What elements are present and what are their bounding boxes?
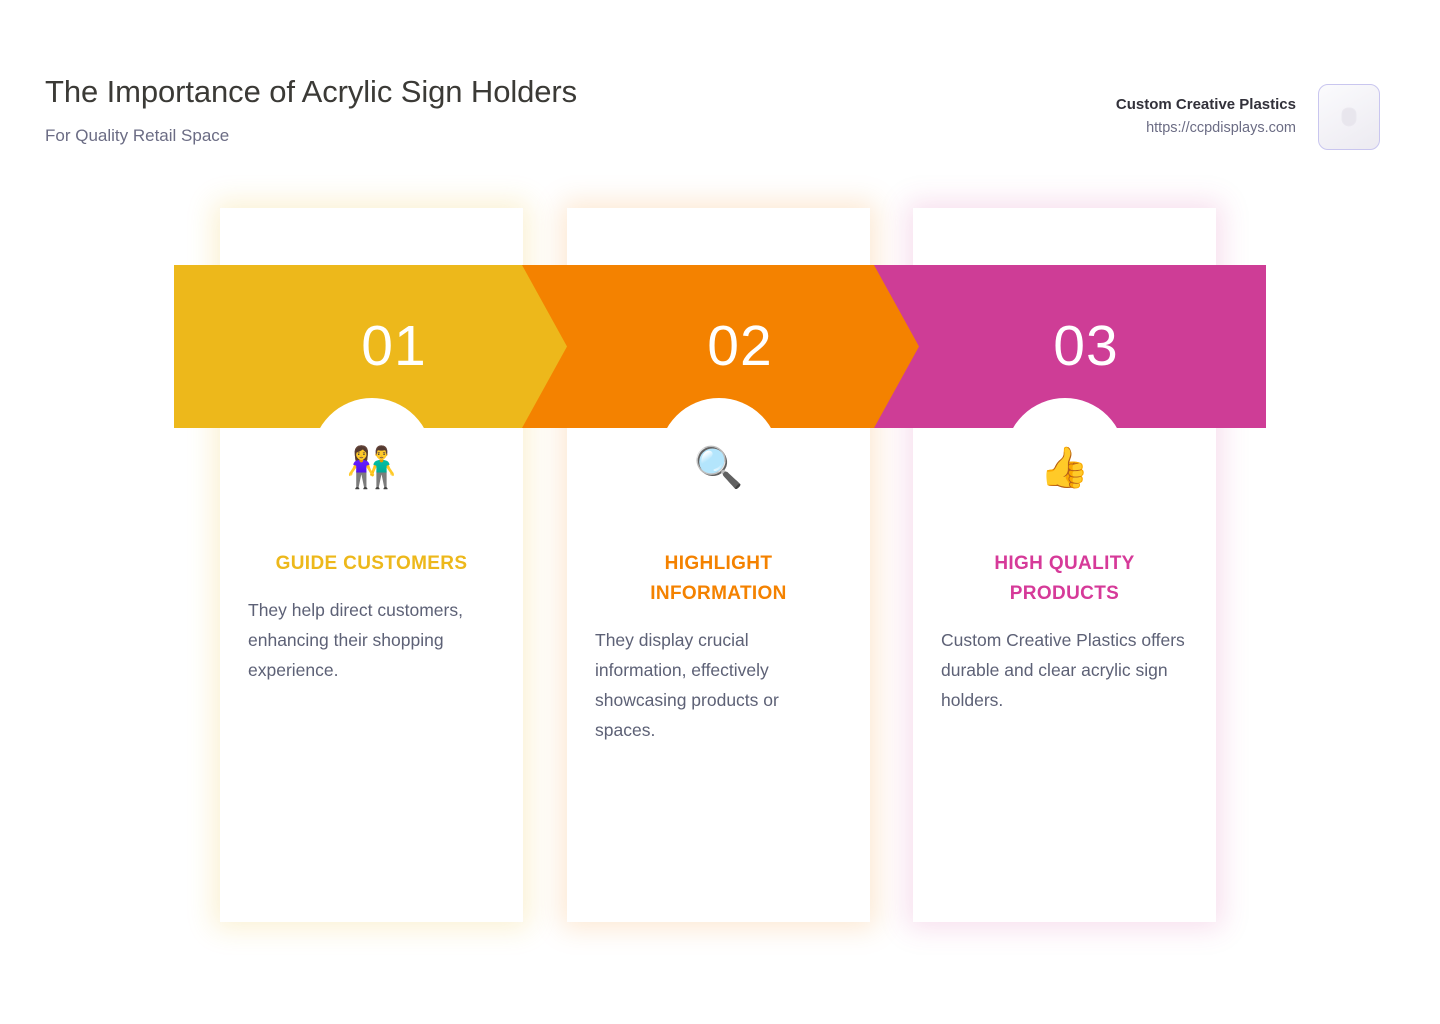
- card-description: They help direct customers, enhancing th…: [248, 595, 495, 685]
- infographic-page: The Importance of Acrylic Sign Holders F…: [0, 0, 1440, 1024]
- card-body: 🔍 HIGHLIGHT INFORMATION They display cru…: [567, 444, 870, 745]
- thumbs-up-icon: 👍: [941, 444, 1188, 492]
- card-description: They display crucial information, effect…: [595, 625, 842, 745]
- card-heading: GUIDE CUSTOMERS: [248, 549, 495, 579]
- card-heading: HIGHLIGHT INFORMATION: [595, 549, 842, 609]
- steps-container: 👫 GUIDE CUSTOMERS They help direct custo…: [0, 0, 1440, 1024]
- magnifying-glass-icon: 🔍: [595, 444, 842, 492]
- card-description: Custom Creative Plastics offers durable …: [941, 625, 1188, 715]
- card-body: 👍 HIGH QUALITY PRODUCTS Custom Creative …: [913, 444, 1216, 715]
- card-heading: HIGH QUALITY PRODUCTS: [941, 549, 1188, 609]
- people-holding-hands-icon: 👫: [248, 444, 495, 492]
- card-body: 👫 GUIDE CUSTOMERS They help direct custo…: [220, 444, 523, 685]
